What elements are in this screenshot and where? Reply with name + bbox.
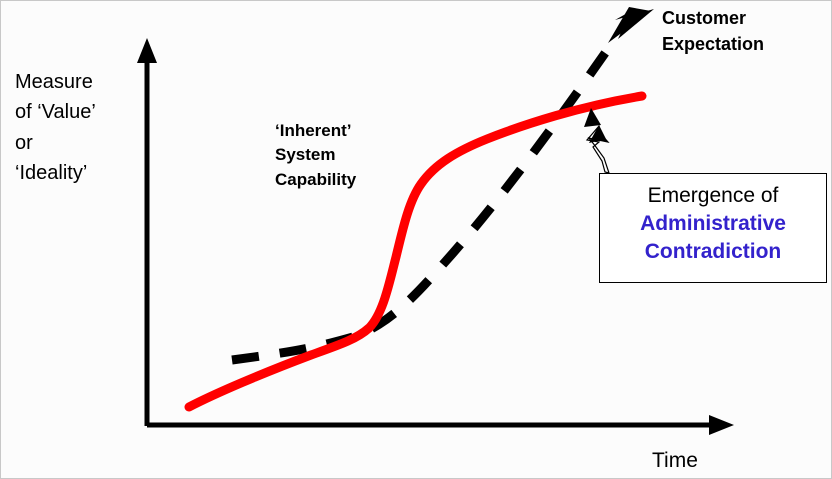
x-axis-label: Time: [652, 447, 698, 474]
y-axis: [137, 38, 157, 426]
diagram-canvas: Measure of ‘Value’ or ‘Ideality’ Time Cu…: [0, 0, 832, 479]
callout-box: Emergence of Administrative Contradictio…: [599, 173, 827, 283]
customer-expectation-label: Customer Expectation: [662, 6, 764, 57]
callout-line-emphasis-2: Contradiction: [600, 238, 826, 266]
callout-line-primary: Emergence of: [600, 182, 826, 210]
x-axis: [147, 415, 734, 435]
callout-line-emphasis-1: Administrative: [600, 210, 826, 238]
inherent-capability-label: ‘Inherent’ System Capability: [275, 119, 356, 192]
y-axis-label: Measure of ‘Value’ or ‘Ideality’: [15, 67, 96, 189]
